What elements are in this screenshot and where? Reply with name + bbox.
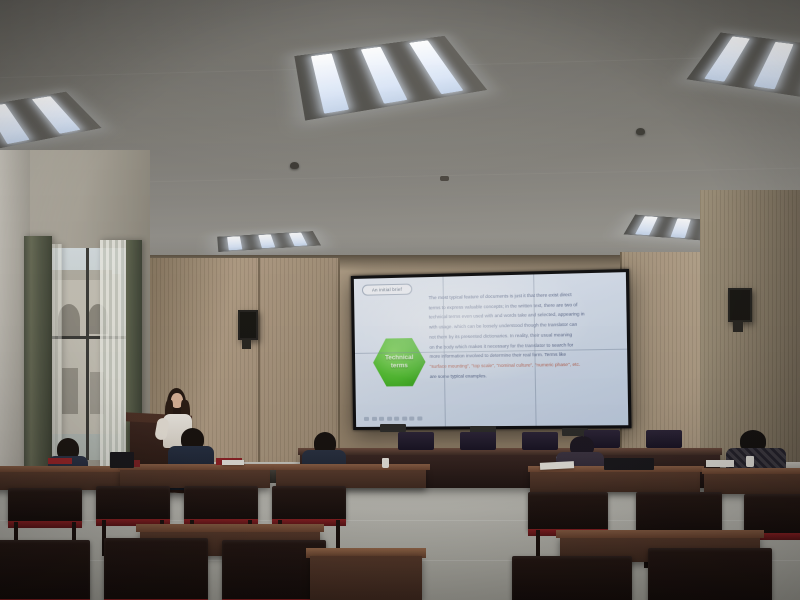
paper-cup xyxy=(382,458,389,468)
audience-desk xyxy=(276,468,426,488)
page-dot[interactable] xyxy=(409,417,414,421)
page-dot[interactable] xyxy=(379,417,384,421)
paper-sheet xyxy=(222,460,244,465)
page-dot[interactable] xyxy=(371,417,376,421)
curtain-left xyxy=(24,236,52,468)
sprinkler-icon xyxy=(440,176,449,181)
ceiling-sensor-icon xyxy=(636,128,645,135)
paper-cup xyxy=(746,456,754,467)
table-chair-back xyxy=(460,432,496,450)
slide-line: are some typical examples. xyxy=(430,369,617,381)
chair-back[interactable] xyxy=(184,486,258,520)
audience-desk xyxy=(704,472,800,494)
screen-mount-foot xyxy=(380,424,406,432)
chair[interactable] xyxy=(8,488,82,522)
slide-body-text: The most typical feature of documents is… xyxy=(429,289,617,382)
speaker-mount xyxy=(242,339,251,349)
table-chair-back xyxy=(522,432,558,450)
chair-back[interactable] xyxy=(96,486,170,520)
paper-sheet xyxy=(706,460,734,467)
chair[interactable] xyxy=(104,538,208,600)
chair[interactable] xyxy=(528,492,608,530)
conference-room-photo: An initial brief Technical terms The mos… xyxy=(0,0,800,600)
chair-back[interactable] xyxy=(744,494,800,534)
chair[interactable] xyxy=(96,486,170,520)
head-table-top xyxy=(298,448,722,455)
page-dot[interactable] xyxy=(364,417,369,421)
audience-desk-top xyxy=(136,524,324,532)
audience-desk-top xyxy=(556,530,764,538)
chair-back[interactable] xyxy=(512,556,632,600)
chair[interactable] xyxy=(0,540,90,600)
book xyxy=(48,458,72,464)
chair-back[interactable] xyxy=(8,488,82,522)
table-chair-back xyxy=(398,432,434,450)
page-dot[interactable] xyxy=(402,417,407,421)
chair[interactable] xyxy=(512,556,632,600)
page-dot[interactable] xyxy=(417,416,422,420)
page-dot[interactable] xyxy=(394,417,399,421)
laptop xyxy=(110,452,134,468)
chair-back[interactable] xyxy=(272,486,346,520)
speaker-grill xyxy=(240,312,256,338)
wall-speaker-left xyxy=(238,310,258,340)
chair-back[interactable] xyxy=(0,540,90,600)
audience-desk xyxy=(530,470,700,492)
wall-speaker-right xyxy=(728,288,752,322)
audience-desk xyxy=(120,468,270,488)
slide-page-indicator[interactable] xyxy=(364,416,422,420)
speaker-mount xyxy=(733,321,743,332)
chair-back[interactable] xyxy=(648,548,772,600)
chair[interactable] xyxy=(272,486,346,520)
audience-desk-top xyxy=(118,464,274,470)
wall-seam xyxy=(258,258,260,473)
chair-cushion xyxy=(8,521,82,528)
sheer-curtain xyxy=(100,240,126,466)
chair-back[interactable] xyxy=(528,492,608,530)
audience-desk-top xyxy=(274,464,430,470)
chair[interactable] xyxy=(636,492,722,532)
slide-header-badge: An initial brief xyxy=(362,284,412,296)
ceiling-sensor-icon xyxy=(290,162,299,169)
chair[interactable] xyxy=(744,494,800,534)
laptop xyxy=(604,458,654,470)
video-wall-display[interactable]: An initial brief Technical terms The mos… xyxy=(351,269,632,430)
audience-desk xyxy=(310,556,422,600)
window-mullion xyxy=(86,248,89,460)
building-window xyxy=(62,368,78,414)
audience-desk-top xyxy=(702,468,800,474)
speaker-grill xyxy=(730,290,750,320)
audience-desk-top xyxy=(0,466,124,472)
sheer-curtain xyxy=(52,244,62,464)
table-chair-back xyxy=(646,430,682,448)
chair[interactable] xyxy=(184,486,258,520)
page-dot[interactable] xyxy=(387,417,392,421)
chair-back[interactable] xyxy=(636,492,722,532)
hexagon-label: Technical terms xyxy=(373,354,426,370)
technical-terms-hexagon: Technical terms xyxy=(373,336,426,389)
chair[interactable] xyxy=(648,548,772,600)
projected-slide: An initial brief Technical terms The mos… xyxy=(354,272,629,427)
chair-back[interactable] xyxy=(104,538,208,600)
